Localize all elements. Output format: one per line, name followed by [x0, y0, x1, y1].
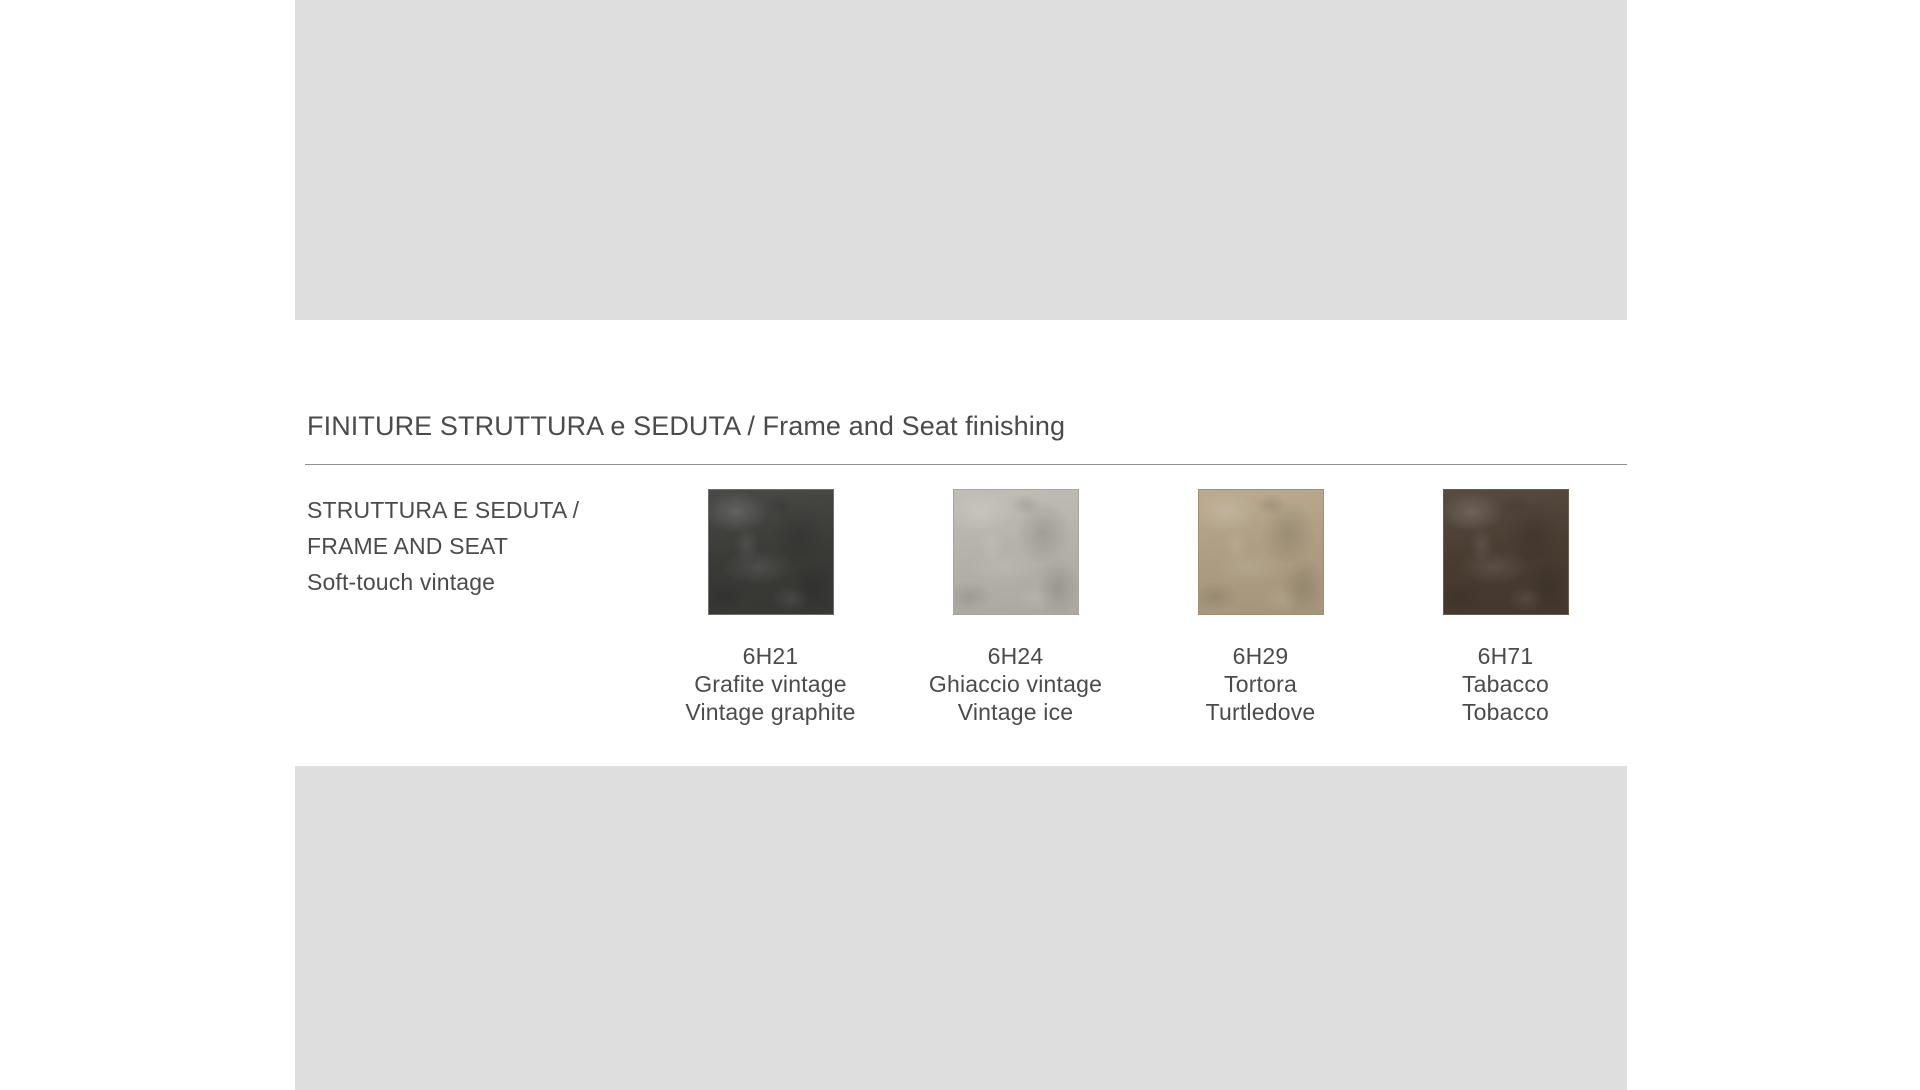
swatch-code: 6H29: [1206, 642, 1316, 670]
swatch-name-en: Tobacco: [1462, 698, 1549, 726]
finish-label-line-2: FRAME AND SEAT: [307, 528, 667, 564]
swatch-cell[interactable]: 6H21 Grafite vintage Vintage graphite: [648, 489, 893, 726]
swatch-name-en: Vintage ice: [929, 698, 1102, 726]
catalogue-page: FINITURE STRUTTURA e SEDUTA / Frame and …: [0, 0, 1920, 1080]
section-divider: [305, 464, 1627, 465]
image-placeholder-bottom: [295, 766, 1627, 1090]
swatch-chip-6h29[interactable]: [1198, 489, 1324, 615]
swatch-strip: 6H21 Grafite vintage Vintage graphite 6H…: [648, 489, 1628, 726]
section-title: FINITURE STRUTTURA e SEDUTA / Frame and …: [307, 410, 1627, 444]
swatch-caption: 6H21 Grafite vintage Vintage graphite: [685, 642, 855, 726]
finish-row-label: STRUTTURA E SEDUTA / FRAME AND SEAT Soft…: [307, 492, 667, 600]
swatch-chip-6h71[interactable]: [1443, 489, 1569, 615]
swatch-caption: 6H29 Tortora Turtledove: [1206, 642, 1316, 726]
finish-label-subtitle: Soft-touch vintage: [307, 564, 667, 600]
swatch-code: 6H21: [685, 642, 855, 670]
swatch-name-en: Turtledove: [1206, 698, 1316, 726]
swatch-chip-6h21[interactable]: [708, 489, 834, 615]
swatch-code: 6H24: [929, 642, 1102, 670]
swatch-name-en: Vintage graphite: [685, 698, 855, 726]
swatch-chip-6h24[interactable]: [953, 489, 1079, 615]
swatch-caption: 6H24 Ghiaccio vintage Vintage ice: [929, 642, 1102, 726]
swatch-name-it: Ghiaccio vintage: [929, 670, 1102, 698]
swatch-name-it: Grafite vintage: [685, 670, 855, 698]
swatch-cell[interactable]: 6H71 Tabacco Tobacco: [1383, 489, 1628, 726]
finish-label-line-1: STRUTTURA E SEDUTA /: [307, 492, 667, 528]
swatch-name-it: Tortora: [1206, 670, 1316, 698]
swatch-code: 6H71: [1462, 642, 1549, 670]
section-header: FINITURE STRUTTURA e SEDUTA / Frame and …: [307, 410, 1627, 444]
swatch-name-it: Tabacco: [1462, 670, 1549, 698]
swatch-cell[interactable]: 6H24 Ghiaccio vintage Vintage ice: [893, 489, 1138, 726]
image-placeholder-top: [295, 0, 1627, 320]
swatch-cell[interactable]: 6H29 Tortora Turtledove: [1138, 489, 1383, 726]
swatch-caption: 6H71 Tabacco Tobacco: [1462, 642, 1549, 726]
